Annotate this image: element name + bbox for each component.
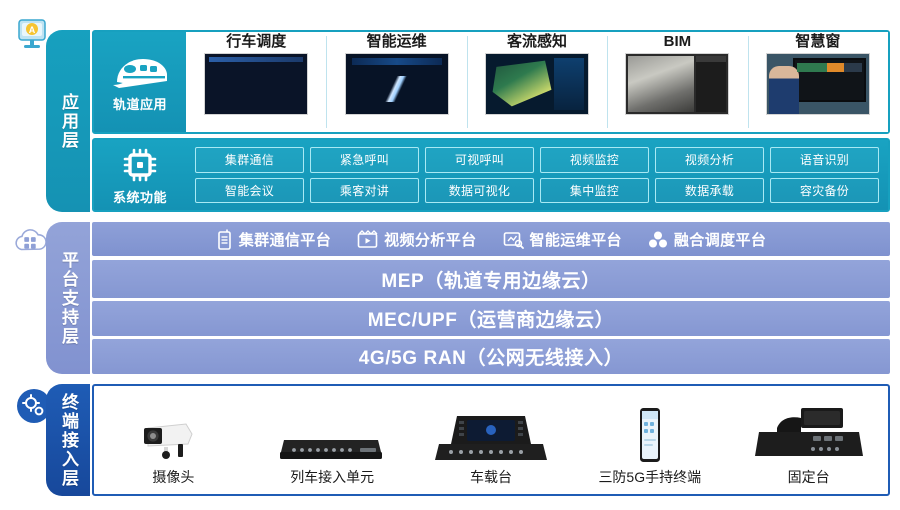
layer-tab-application[interactable]: 应用层 [46, 30, 90, 212]
platform-services-band: 集群通信平台 视频分析平台 [92, 222, 890, 256]
architecture-diagram: A 应用层 [0, 0, 900, 510]
platform-item-3[interactable]: 融合调度平台 [648, 229, 766, 250]
function-tag-8[interactable]: 数据可视化 [425, 178, 534, 204]
device-label-4: 固定台 [788, 467, 830, 487]
app-card-3[interactable]: BIM [607, 32, 747, 132]
platform-label-3: 融合调度平台 [674, 229, 766, 250]
device-2[interactable]: 车载台 [412, 386, 571, 494]
cctv-camera-icon [134, 406, 212, 464]
app-title-4: 智慧窗 [795, 34, 840, 51]
app-title-1: 智能运维 [367, 34, 427, 51]
app-card-4[interactable]: 智慧窗 [748, 32, 888, 132]
device-label-1: 列车接入单元 [290, 467, 374, 487]
function-tag-6[interactable]: 智能会议 [195, 178, 304, 204]
device-3[interactable]: 三防5G手持终端 [570, 386, 729, 494]
system-function-cell: 系统功能 [94, 140, 186, 210]
cpu-chip-icon [120, 145, 160, 185]
fixed-station-icon [751, 406, 867, 464]
app-thumbnail-2 [485, 53, 589, 115]
app-title-0: 行车调度 [226, 34, 286, 51]
app-card-1[interactable]: 智能运维 [326, 32, 466, 132]
function-tag-2[interactable]: 可视呼叫 [425, 147, 534, 173]
function-tag-3[interactable]: 视频监控 [540, 147, 649, 173]
layer-tab-platform[interactable]: 平台支持层 [46, 222, 90, 374]
platform-item-1[interactable]: 视频分析平台 [357, 229, 476, 250]
function-tag-9[interactable]: 集中监控 [540, 178, 649, 204]
rugged-phone-icon [633, 406, 667, 464]
app-thumbnail-3 [625, 53, 729, 115]
device-label-3: 三防5G手持终端 [598, 467, 701, 487]
app-thumbnail-4 [766, 53, 870, 115]
function-tag-5[interactable]: 语音识别 [770, 147, 879, 173]
platform-row-ran[interactable]: 4G/5G RAN（公网无线接入） [92, 339, 890, 374]
system-function-tags: 集群通信 紧急呼叫 可视呼叫 视频监控 视频分析 语音识别 智能会议 乘客对讲 … [186, 140, 888, 210]
function-tag-7[interactable]: 乘客对讲 [310, 178, 419, 204]
radio-icon [216, 229, 233, 250]
terminal-access-layer: 摄像头 列车接入单元 [92, 384, 890, 496]
platform-label-0: 集群通信平台 [239, 229, 331, 250]
device-0[interactable]: 摄像头 [94, 386, 253, 494]
monitor-wrench-icon [503, 230, 524, 249]
app-title-3: BIM [664, 34, 692, 51]
app-card-2[interactable]: 客流感知 [467, 32, 607, 132]
function-tag-11[interactable]: 容灾备份 [770, 178, 879, 204]
layer-label-terminal: 终端接入层 [59, 393, 77, 488]
function-tag-1[interactable]: 紧急呼叫 [310, 147, 419, 173]
svg-text:A: A [29, 25, 36, 35]
platform-label-2: 智能运维平台 [530, 229, 622, 250]
app-thumbnail-1 [345, 53, 449, 115]
platform-support-layer: 集群通信平台 视频分析平台 [92, 222, 890, 374]
system-function-label: 系统功能 [113, 187, 167, 206]
rack-unit-icon [278, 406, 386, 464]
film-play-icon [357, 230, 378, 249]
application-layer: 轨道应用 行车调度 智能运维 客流感知 BIM [92, 30, 890, 212]
function-tag-10[interactable]: 数据承载 [655, 178, 764, 204]
rail-application-label: 轨道应用 [113, 94, 167, 113]
device-label-0: 摄像头 [152, 467, 194, 487]
platform-row-mep[interactable]: MEP（轨道专用边缘云） [92, 260, 890, 298]
rail-application-row: 轨道应用 行车调度 智能运维 客流感知 BIM [92, 30, 890, 134]
platform-label-1: 视频分析平台 [384, 229, 476, 250]
function-tag-0[interactable]: 集群通信 [195, 147, 304, 173]
cloud-grid-icon [10, 220, 50, 260]
platform-item-0[interactable]: 集群通信平台 [216, 229, 331, 250]
function-tag-4[interactable]: 视频分析 [655, 147, 764, 173]
system-function-row: 系统功能 集群通信 紧急呼叫 可视呼叫 视频监控 视频分析 语音识别 智能会议 … [92, 138, 890, 212]
app-thumbnail-0 [204, 53, 308, 115]
layer-label-platform: 平台支持层 [59, 251, 77, 346]
application-screenshots: 行车调度 智能运维 客流感知 BIM 智慧窗 [186, 32, 888, 132]
device-label-2: 车载台 [470, 467, 512, 487]
device-1[interactable]: 列车接入单元 [253, 386, 412, 494]
train-icon [109, 52, 171, 92]
device-4[interactable]: 固定台 [729, 386, 888, 494]
app-title-2: 客流感知 [507, 34, 567, 51]
merge-icon [648, 230, 668, 249]
platform-row-mec-upf[interactable]: MEC/UPF（运营商边缘云） [92, 301, 890, 336]
rail-application-cell: 轨道应用 [94, 32, 186, 132]
vehicle-terminal-icon [431, 406, 551, 464]
app-card-0[interactable]: 行车调度 [186, 32, 326, 132]
layer-tab-terminal[interactable]: 终端接入层 [46, 384, 90, 496]
layer-label-application: 应用层 [59, 93, 77, 150]
platform-item-2[interactable]: 智能运维平台 [503, 229, 622, 250]
